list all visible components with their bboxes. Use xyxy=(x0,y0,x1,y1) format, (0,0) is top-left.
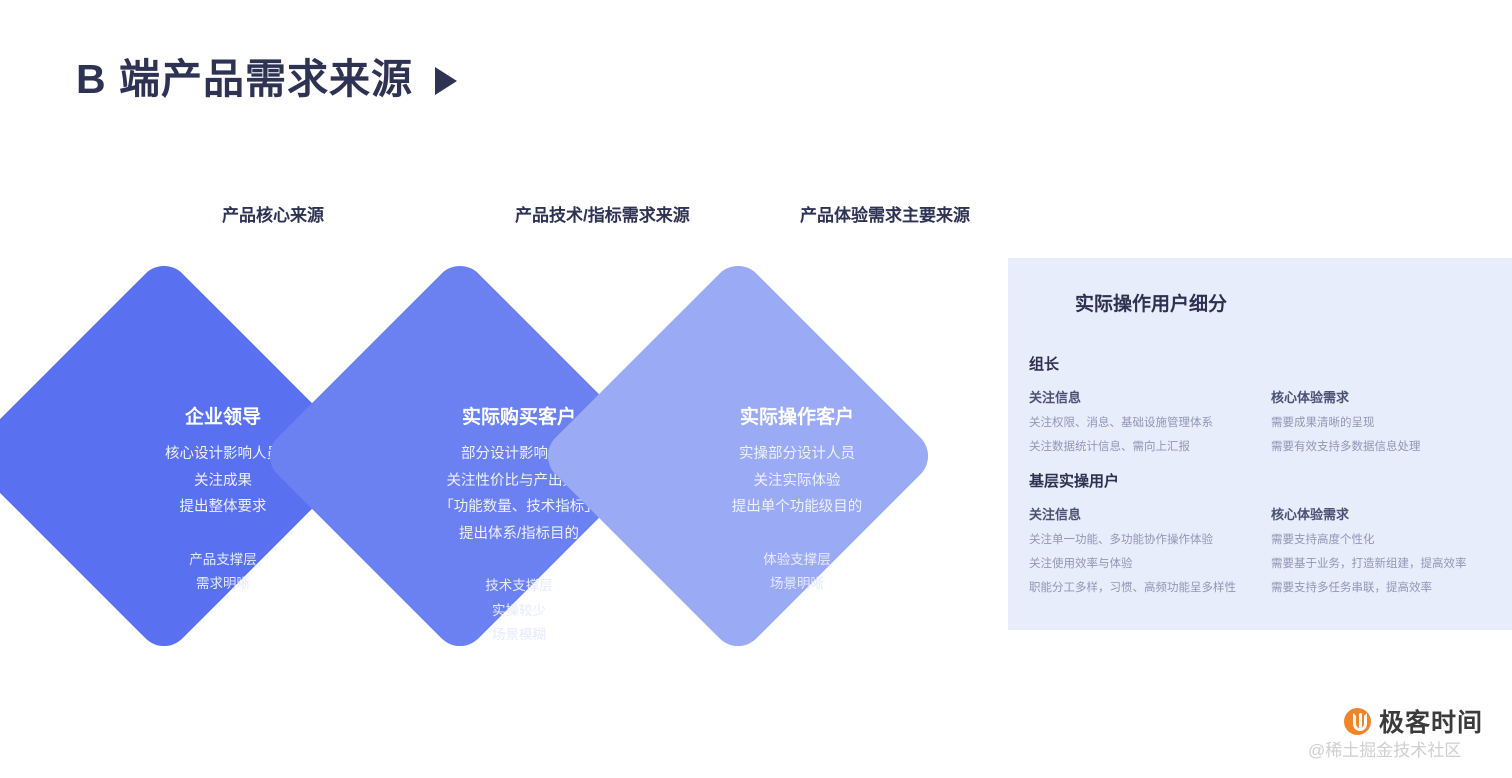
column-caption-experience-source: 产品体验需求主要来源 xyxy=(800,201,970,226)
diamond-subline: 场景模糊 xyxy=(485,628,553,642)
segment-column-needs: 核心体验需求 需要成果清晰的呈现 需要有效支持多数据信息处理 xyxy=(1271,387,1512,453)
diamond-shape xyxy=(537,255,939,657)
watermark: @稀土掘金技术社区 xyxy=(1308,736,1461,761)
segment-column-needs: 核心体验需求 需要支持高度个性化 需要基于业务，打造新组建，提高效率 需要支持多… xyxy=(1271,504,1512,594)
segment-detail-line: 关注使用效率与体验 xyxy=(1029,558,1271,570)
segment-detail-line: 关注权限、消息、基础设施管理体系 xyxy=(1029,417,1271,429)
segment-column-title: 核心体验需求 xyxy=(1271,387,1512,406)
segment-columns: 关注信息 关注单一功能、多功能协作操作体验 关注使用效率与体验 职能分工多样，习… xyxy=(1029,504,1512,594)
segment-column-title: 核心体验需求 xyxy=(1271,504,1512,523)
segment-detail-line: 职能分工多样，习惯、高频功能呈多样性 xyxy=(1029,582,1271,594)
brand-logo: 极客时间 xyxy=(1344,703,1483,739)
column-caption-core-source: 产品核心来源 xyxy=(222,201,324,226)
geekbang-circle-icon xyxy=(1344,708,1371,735)
info-panel-title: 实际操作用户细分 xyxy=(1075,289,1227,316)
segment-detail-line: 需要支持多任务串联，提高效率 xyxy=(1271,582,1512,594)
segment-detail-line: 需要基于业务，打造新组建，提高效率 xyxy=(1271,558,1512,570)
segment-detail-line: 需要成果清晰的呈现 xyxy=(1271,417,1512,429)
brand-logo-text: 极客时间 xyxy=(1379,703,1483,739)
title-row: B 端产品需求来源 xyxy=(76,57,457,102)
segment-column-title: 关注信息 xyxy=(1029,387,1271,406)
segment-column-title: 关注信息 xyxy=(1029,504,1271,523)
slide-canvas: B 端产品需求来源 产品核心来源 产品技术/指标需求来源 产品体验需求主要来源 … xyxy=(0,0,1512,778)
segment-detail-line: 需要有效支持多数据信息处理 xyxy=(1271,441,1512,453)
segment-name: 基层实操用户 xyxy=(1029,470,1512,491)
segment-column-focus: 关注信息 关注权限、消息、基础设施管理体系 关注数据统计信息、需向上汇报 xyxy=(1029,387,1271,453)
segment-detail-line: 关注数据统计信息、需向上汇报 xyxy=(1029,441,1271,453)
segment-detail-line: 关注单一功能、多功能协作操作体验 xyxy=(1029,534,1271,546)
segment-group-leader: 组长 关注信息 关注权限、消息、基础设施管理体系 关注数据统计信息、需向上汇报 … xyxy=(1029,353,1512,453)
segment-name: 组长 xyxy=(1029,353,1512,374)
page-title: B 端产品需求来源 xyxy=(76,57,413,102)
segment-detail-line: 需要支持高度个性化 xyxy=(1271,534,1512,546)
segment-columns: 关注信息 关注权限、消息、基础设施管理体系 关注数据统计信息、需向上汇报 核心体… xyxy=(1029,387,1512,453)
segment-frontline-user: 基层实操用户 关注信息 关注单一功能、多功能协作操作体验 关注使用效率与体验 职… xyxy=(1029,470,1512,594)
column-caption-tech-source: 产品技术/指标需求来源 xyxy=(515,201,690,226)
segment-column-focus: 关注信息 关注单一功能、多功能协作操作体验 关注使用效率与体验 职能分工多样，习… xyxy=(1029,504,1271,594)
play-triangle-icon xyxy=(435,67,457,95)
